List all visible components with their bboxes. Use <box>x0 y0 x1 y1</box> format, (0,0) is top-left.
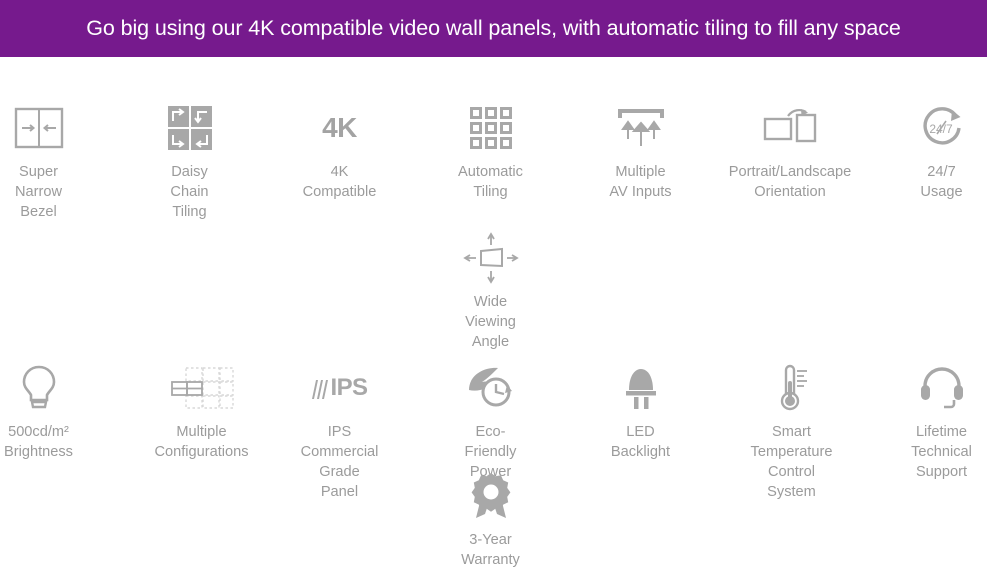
award-ribbon-icon <box>420 467 561 525</box>
feature-label: Daisy Chain Tiling <box>119 162 260 222</box>
two-panels-arrows-inward-icon <box>0 99 109 157</box>
24-7-circular-arrow-icon: 24/7 <box>871 99 987 157</box>
four-tile-arrows-icon <box>119 99 260 157</box>
screen-four-arrows-icon <box>420 229 561 287</box>
header-banner: Go big using our 4K compatible video wal… <box>0 0 987 57</box>
4k-text-icon: 4K <box>269 99 410 157</box>
expandable-grid-icon <box>131 359 272 417</box>
feature-label: 3-Year Warranty <box>420 530 561 570</box>
feature-label: 500cd/m² Brightness <box>0 422 109 462</box>
feature-label: Portrait/Landscape Orientation <box>690 162 890 202</box>
feature-3-year-warranty[interactable]: 3-Year Warranty <box>420 467 561 570</box>
headset-icon <box>871 359 987 417</box>
ips-icon-text: IPS <box>331 374 368 402</box>
page-title: Go big using our 4K compatible video wal… <box>86 16 901 41</box>
feature-multiple-configurations[interactable]: Multiple Configurations <box>131 359 272 462</box>
feature-label: Multiple Configurations <box>131 422 272 462</box>
feature-label: Smart Temperature Control System <box>721 422 862 502</box>
feature-ips-commercial-grade-panel[interactable]: IPS IPS Commercial Grade Panel <box>269 359 410 502</box>
three-by-three-grid-icon <box>420 99 561 157</box>
thermometer-icon <box>721 359 862 417</box>
led-diode-icon <box>570 359 711 417</box>
ips-text-icon: IPS <box>269 359 410 417</box>
page-root: Go big using our 4K compatible video wal… <box>0 0 987 571</box>
feature-label: Automatic Tiling <box>420 162 561 202</box>
light-bulb-icon <box>0 359 109 417</box>
feature-wide-viewing-angle[interactable]: Wide Viewing Angle <box>420 229 561 352</box>
feature-led-backlight[interactable]: LED Backlight <box>570 359 711 462</box>
feature-eco-friendly-power[interactable]: Eco- Friendly Power <box>420 359 561 482</box>
feature-24-7-usage[interactable]: 24/7 24/7 Usage <box>871 99 987 202</box>
feature-smart-temperature-control-system[interactable]: Smart Temperature Control System <box>721 359 862 502</box>
4k-icon-text: 4K <box>322 112 357 144</box>
feature-4k-compatible[interactable]: 4K 4K Compatible <box>269 99 410 202</box>
feature-super-narrow-bezel[interactable]: Super Narrow Bezel <box>0 99 109 222</box>
feature-daisy-chain-tiling[interactable]: Daisy Chain Tiling <box>119 99 260 222</box>
feature-label: Lifetime Technical Support <box>871 422 987 482</box>
rotate-screens-icon <box>690 99 890 157</box>
feature-label: Super Narrow Bezel <box>0 162 109 222</box>
feature-label: IPS Commercial Grade Panel <box>269 422 410 502</box>
feature-grid: Super Narrow Bezel Daisy Chain Tiling <box>0 57 987 571</box>
feature-brightness[interactable]: 500cd/m² Brightness <box>0 359 109 462</box>
feature-lifetime-technical-support[interactable]: Lifetime Technical Support <box>871 359 987 482</box>
leaf-clock-icon <box>420 359 561 417</box>
feature-label: 4K Compatible <box>269 162 410 202</box>
feature-automatic-tiling[interactable]: Automatic Tiling <box>420 99 561 202</box>
feature-label: 24/7 Usage <box>871 162 987 202</box>
feature-label: Wide Viewing Angle <box>420 292 561 352</box>
feature-portrait-landscape-orientation[interactable]: Portrait/Landscape Orientation <box>690 99 890 202</box>
feature-label: LED Backlight <box>570 422 711 462</box>
